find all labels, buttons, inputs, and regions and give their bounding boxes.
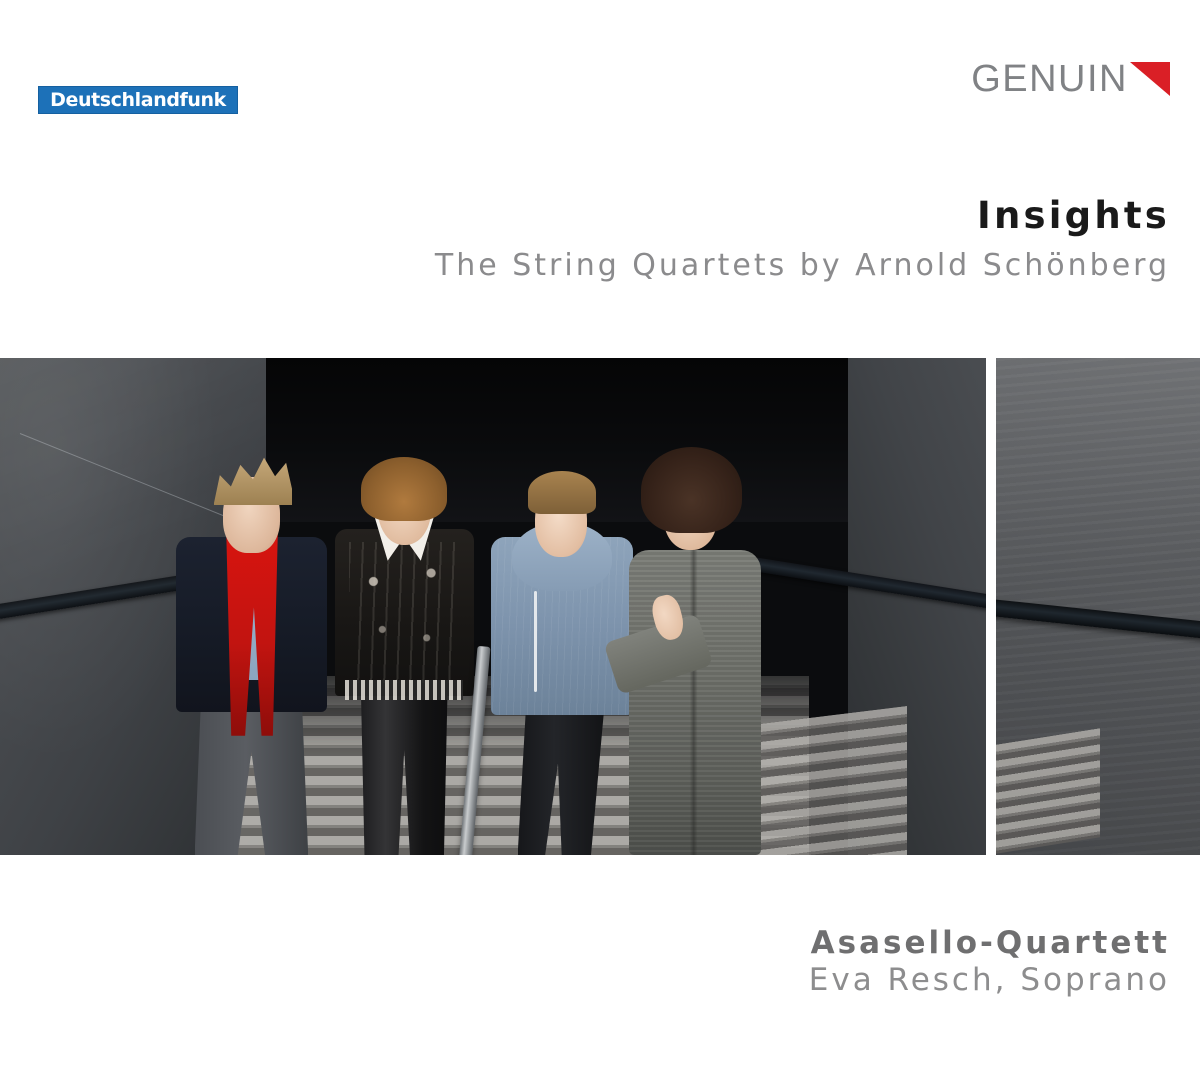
deutschlandfunk-logo-text: Deutschlandfunk (50, 91, 226, 110)
stairwell-scene (0, 358, 986, 855)
album-subtitle: The String Quartets by Arnold Schönberg (170, 247, 1170, 285)
person-4-grey-coat (629, 550, 762, 855)
album-title: Insights (170, 196, 1170, 237)
person-3-hair (528, 471, 596, 514)
person-3-drawstring (534, 591, 537, 692)
photo-right-panel (996, 358, 1200, 855)
person-2-belt (345, 680, 463, 700)
person-1-hair (214, 453, 293, 505)
cd-cover: Deutschlandfunk GENUIN Insights The Stri… (0, 0, 1200, 1071)
person-2-leather-trousers (357, 680, 452, 855)
person-2-ornate-jacket (335, 529, 474, 696)
genuin-wordmark: GENUIN (971, 60, 1128, 98)
ensemble-name: Asasello-Quartett (170, 925, 1170, 962)
right-panel-stairs (996, 728, 1100, 855)
photo-main-panel (0, 358, 986, 855)
soloist-name: Eva Resch, Soprano (170, 962, 1170, 999)
person-2 (330, 457, 478, 855)
person-1 (173, 457, 331, 855)
person-1-legs (195, 688, 309, 855)
genuin-triangle-icon (1130, 62, 1170, 96)
photo-panel-divider (986, 358, 996, 855)
person-4 (616, 443, 774, 856)
cover-photograph (0, 358, 1200, 855)
credits-block: Asasello-Quartett Eva Resch, Soprano (170, 925, 1170, 998)
deutschlandfunk-logo: Deutschlandfunk (38, 86, 238, 114)
genuin-logo: GENUIN (971, 58, 1170, 100)
person-3-trousers (518, 692, 610, 855)
person-4-hair (641, 447, 742, 534)
title-block: Insights The String Quartets by Arnold S… (170, 196, 1170, 284)
person-2-hair (361, 457, 447, 521)
